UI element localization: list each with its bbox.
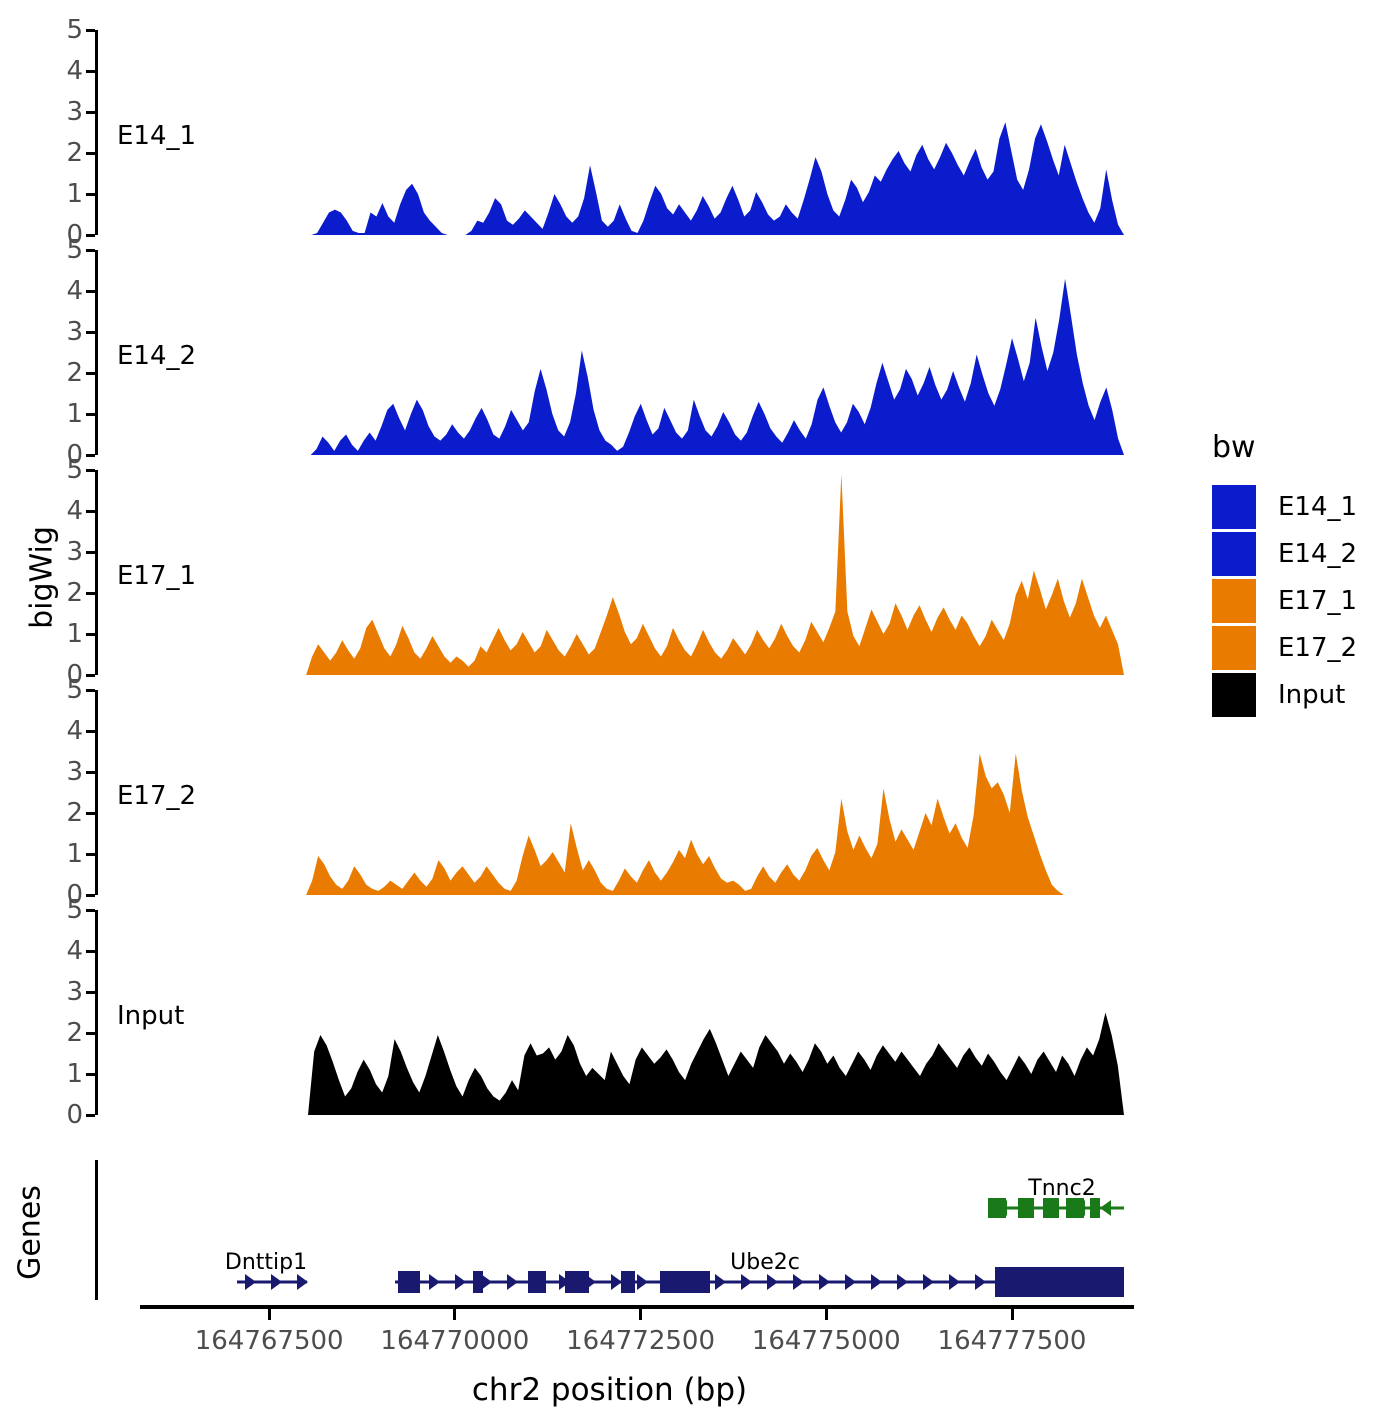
legend-item-e14_1[interactable]: E14_1 [1212, 485, 1357, 529]
legend-title: bw [1212, 430, 1357, 465]
x-tick-label: 164767500 [195, 1326, 344, 1356]
y-tick-mark [86, 111, 95, 114]
signal-polygon [240, 754, 1124, 895]
x-tick-mark [453, 1309, 456, 1320]
y-tick-label: 0 [66, 1102, 83, 1128]
legend-label: E14_1 [1278, 492, 1357, 522]
signal-area-e17_2 [98, 690, 1124, 895]
y-tick-mark [86, 152, 95, 155]
y-tick-mark [86, 853, 95, 856]
x-tick-mark [268, 1309, 271, 1320]
legend: bw E14_1E14_2E17_1E17_2Input [1212, 430, 1357, 720]
y-tick-mark [86, 331, 95, 334]
y-tick-mark [86, 991, 95, 994]
x-tick-mark [1011, 1309, 1014, 1320]
x-tick-label: 164770000 [380, 1326, 529, 1356]
y-tick-mark [86, 812, 95, 815]
x-tick-label: 164775000 [752, 1326, 901, 1356]
track-panel-input: 012345Input [95, 910, 1124, 1115]
track-panel-e17_1: 012345E17_1 [95, 470, 1124, 675]
y-tick-mark [86, 674, 95, 677]
x-axis-line [140, 1305, 1134, 1309]
x-axis-title: chr2 position (bp) [95, 1372, 1124, 1408]
y-tick-label: 4 [66, 498, 83, 524]
y-tick-mark [86, 689, 95, 692]
y-tick-mark [86, 730, 95, 733]
legend-swatch [1212, 579, 1256, 623]
y-tick-mark [86, 469, 95, 472]
y-tick-mark [86, 1114, 95, 1117]
y-tick-label: 3 [66, 759, 83, 785]
y-tick-mark [86, 290, 95, 293]
y-tick-mark [86, 894, 95, 897]
y-tick-label: 4 [66, 278, 83, 304]
y-tick-label: 3 [66, 539, 83, 565]
legend-label: E14_2 [1278, 539, 1357, 569]
legend-item-e14_2[interactable]: E14_2 [1212, 532, 1357, 576]
y-tick-mark [86, 633, 95, 636]
signal-area-e17_1 [98, 470, 1124, 675]
signal-polygon [240, 474, 1124, 675]
y-tick-mark [86, 950, 95, 953]
signal-area-e14_2 [98, 250, 1124, 455]
y-tick-label: 3 [66, 979, 83, 1005]
y-tick-mark [86, 909, 95, 912]
y-tick-label: 4 [66, 938, 83, 964]
y-tick-mark [86, 234, 95, 237]
y-tick-label: 5 [66, 17, 83, 43]
y-tick-mark [86, 771, 95, 774]
signal-polygon [240, 122, 1124, 235]
legend-swatch [1212, 626, 1256, 670]
y-tick-label: 2 [66, 140, 83, 166]
y-tick-mark [86, 29, 95, 32]
y-tick-mark [86, 249, 95, 252]
signal-area-e14_1 [98, 30, 1124, 235]
gene-track-panel: 1647675001647700001647725001647750001647… [95, 1160, 1124, 1410]
legend-items: E14_1E14_2E17_1E17_2Input [1212, 485, 1357, 717]
y-tick-mark [86, 551, 95, 554]
signal-area-input [98, 910, 1124, 1115]
x-tick-mark [825, 1309, 828, 1320]
signal-polygon [240, 1013, 1124, 1116]
y-tick-label: 1 [66, 181, 83, 207]
y-tick-label: 2 [66, 1020, 83, 1046]
y-tick-mark [86, 413, 95, 416]
y-tick-mark [86, 1032, 95, 1035]
y-tick-label: 1 [66, 1061, 83, 1087]
y-tick-label: 5 [66, 677, 83, 703]
gene-label-ube2c: Ube2c [730, 1250, 800, 1275]
y-tick-label: 5 [66, 897, 83, 923]
gene-label-tnnc2: Tnnc2 [1028, 1176, 1095, 1201]
y-tick-mark [86, 1073, 95, 1076]
legend-swatch [1212, 485, 1256, 529]
x-tick-mark [639, 1309, 642, 1320]
legend-item-e17_1[interactable]: E17_1 [1212, 579, 1357, 623]
y-tick-mark [86, 372, 95, 375]
y-tick-label: 1 [66, 621, 83, 647]
x-tick-label: 164777500 [938, 1326, 1087, 1356]
legend-swatch [1212, 673, 1256, 717]
gene-dnttip1[interactable] [237, 1274, 308, 1290]
track-panel-e14_2: 012345E14_2 [95, 250, 1124, 455]
y-tick-mark [86, 592, 95, 595]
y-tick-label: 4 [66, 718, 83, 744]
y-tick-label: 3 [66, 319, 83, 345]
legend-item-input[interactable]: Input [1212, 673, 1357, 717]
y-tick-mark [86, 510, 95, 513]
y-tick-label: 2 [66, 800, 83, 826]
legend-label: E17_1 [1278, 586, 1357, 616]
y-tick-mark [86, 70, 95, 73]
y-tick-label: 1 [66, 841, 83, 867]
y-tick-mark [86, 193, 95, 196]
y-tick-label: 2 [66, 360, 83, 386]
legend-item-e17_2[interactable]: E17_2 [1212, 626, 1357, 670]
gene-models [95, 1160, 1124, 1300]
x-tick-label: 164772500 [566, 1326, 715, 1356]
gene-tnnc2[interactable] [988, 1198, 1124, 1218]
signal-polygon [240, 279, 1124, 455]
track-panel-e17_2: 012345E17_2 [95, 690, 1124, 895]
y-tick-label: 3 [66, 99, 83, 125]
legend-label: Input [1278, 680, 1345, 710]
gene-label-dnttip1: Dnttip1 [225, 1250, 307, 1275]
y-axis-label-genes: Genes [13, 1153, 48, 1313]
y-tick-mark [86, 454, 95, 457]
y-tick-label: 4 [66, 58, 83, 84]
track-panel-e14_1: 012345E14_1 [95, 30, 1124, 235]
y-tick-label: 2 [66, 580, 83, 606]
figure-root: bigWig Genes 012345E14_1012345E14_201234… [0, 0, 1400, 1400]
legend-swatch [1212, 532, 1256, 576]
y-tick-label: 5 [66, 237, 83, 263]
y-tick-label: 1 [66, 401, 83, 427]
y-tick-label: 5 [66, 457, 83, 483]
legend-label: E17_2 [1278, 633, 1357, 663]
y-axis-label-bigwig: bigWig [25, 498, 60, 658]
